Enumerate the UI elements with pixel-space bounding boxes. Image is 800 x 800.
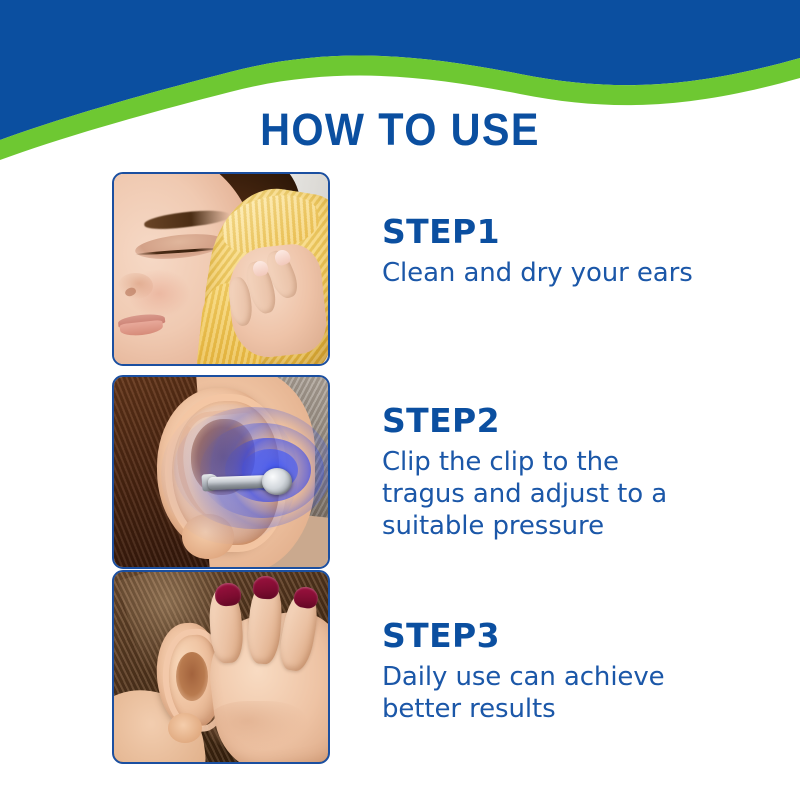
step-item-1: STEP1 Clean and dry your ears xyxy=(0,172,800,366)
step-2-text: STEP2 Clip the clip to the tragus and ad… xyxy=(382,375,800,542)
step-1-text: STEP1 Clean and dry your ears xyxy=(382,172,800,289)
page-title: HOW TO USE xyxy=(32,104,768,156)
step-item-2: STEP2 Clip the clip to the tragus and ad… xyxy=(0,375,800,569)
step-3-photo xyxy=(112,570,330,764)
step-3-photo-image xyxy=(114,572,328,762)
steps-list: STEP1 Clean and dry your ears xyxy=(0,172,800,782)
step-2-photo xyxy=(112,375,330,569)
step-3-description: Daily use can achieve better results xyxy=(382,661,702,725)
step-item-3: STEP3 Daily use can achieve better resul… xyxy=(0,570,800,764)
step-1-photo-image xyxy=(114,174,328,364)
step-2-label: STEP2 xyxy=(382,403,800,439)
how-to-use-poster: HOW TO USE xyxy=(0,0,800,800)
step-1-label: STEP1 xyxy=(382,214,800,250)
step-2-description: Clip the clip to the tragus and adjust t… xyxy=(382,446,702,542)
step-3-label: STEP3 xyxy=(382,618,800,654)
step-3-text: STEP3 Daily use can achieve better resul… xyxy=(382,570,800,725)
step-2-photo-image xyxy=(114,377,328,567)
step-1-description: Clean and dry your ears xyxy=(382,257,702,289)
step-1-photo xyxy=(112,172,330,366)
